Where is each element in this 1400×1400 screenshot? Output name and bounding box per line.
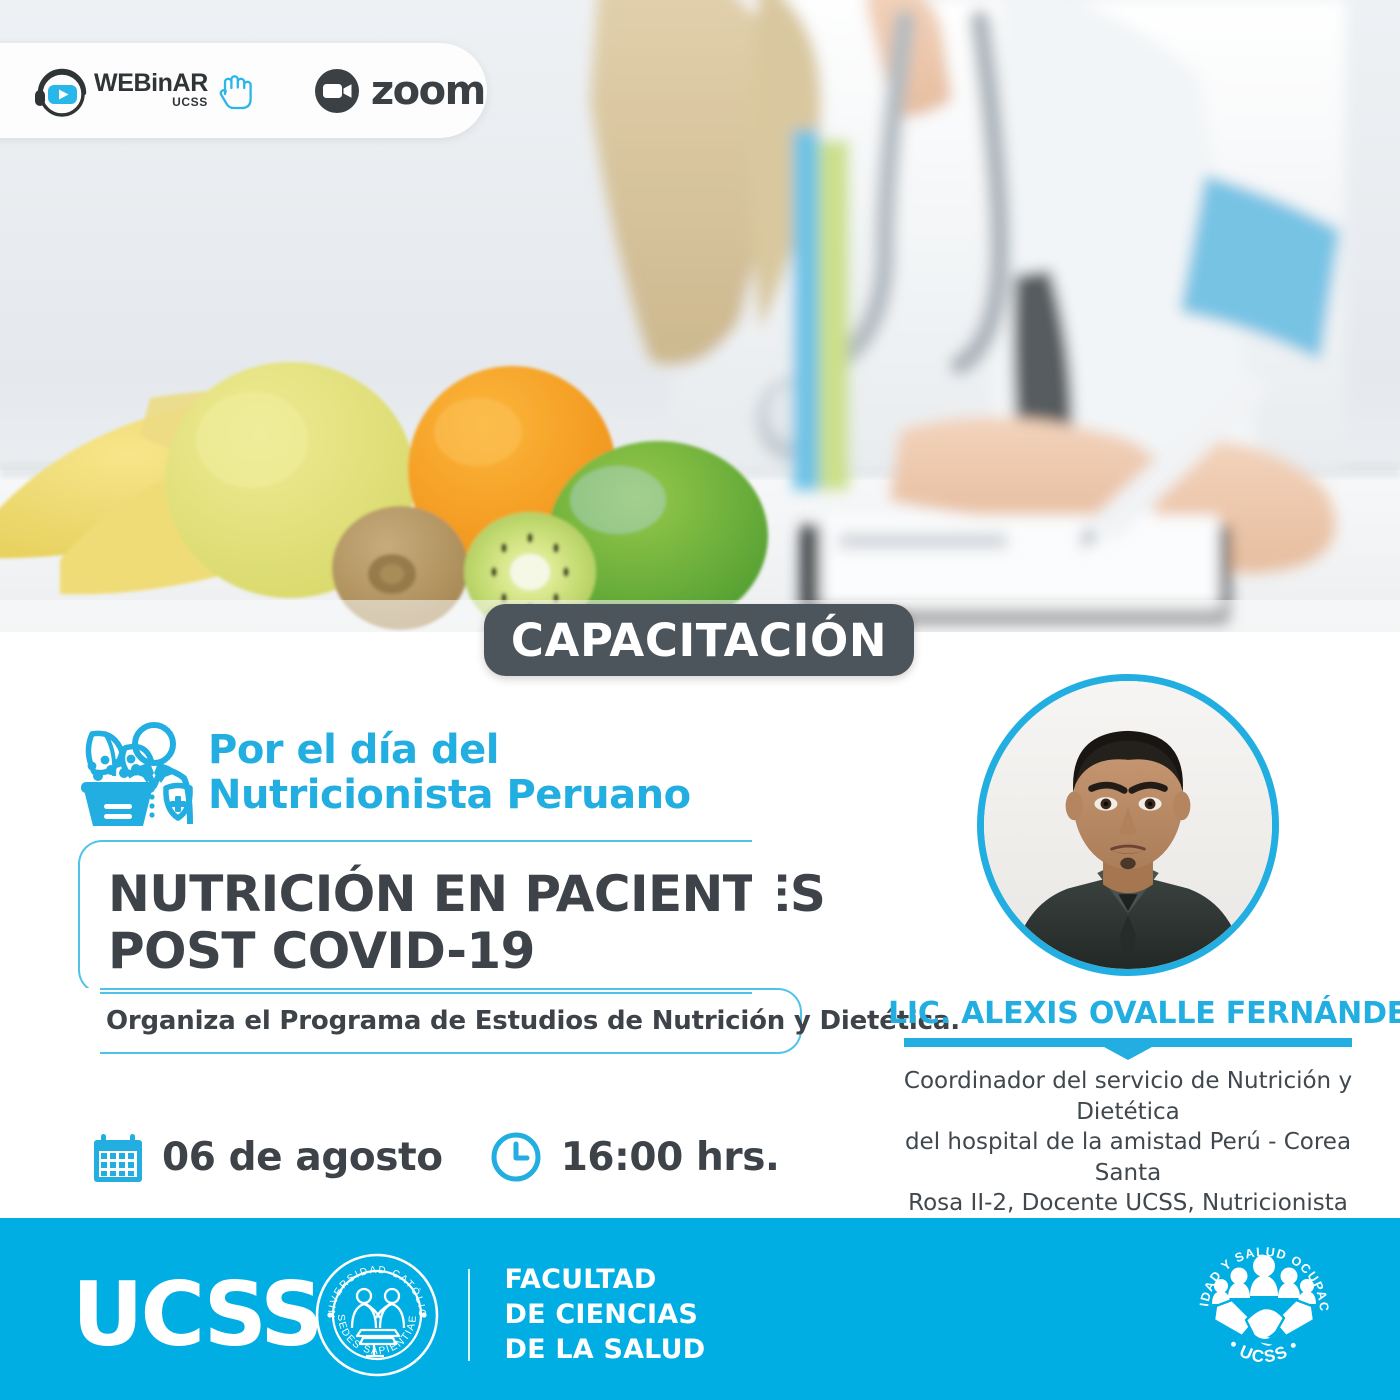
speaker-bio-line-1: Coordinador del servicio de Nutrición y … [892,1066,1364,1127]
zoom-wordmark: zoom [371,68,485,114]
calendar-icon [92,1131,144,1183]
nutritionist-basket-icon [78,722,194,830]
footer-divider [468,1269,470,1361]
event-time-label: 16:00 hrs. [561,1135,780,1180]
webinar-subtitle: UCSS [94,97,208,108]
footer: UCSS UNIVERSIDAD CATÓLICA SEDES SAPIENTI… [0,1218,1400,1400]
speaker-portrait [977,674,1279,976]
faculty-name: FACULTAD DE CIENCIAS DE LA SALUD [504,1264,705,1366]
webinar-zoom-header-bar: WEBinAR UCSS zoom [0,43,487,138]
speaker-bio-line-2: del hospital de la amistad Perú - Corea … [892,1127,1364,1188]
faculty-line-1: FACULTAD [504,1264,705,1296]
footer-branding: UCSS UNIVERSIDAD CATÓLICA SEDES SAPIENTI… [72,1252,705,1378]
left-column: Por el día del Nutricionista Peruano NUT… [78,720,818,1054]
organiza-box: Organiza el Programa de Estudios de Nutr… [76,988,802,1054]
ucss-wordmark: UCSS [72,1271,320,1359]
event-date-label: 06 de agosto [162,1135,443,1180]
poster-root: WEBinAR UCSS zoom [0,0,1400,1400]
kicker-row: Por el día del Nutricionista Peruano [78,720,818,830]
title-wrap: NUTRICIÓN EN PACIENTES POST COVID-19 Org… [78,840,804,1054]
speaker-name: LIC. ALEXIS OVALLE FERNÁNDEZ [888,996,1368,1031]
title-box: NUTRICIÓN EN PACIENTES POST COVID-19 [78,840,776,994]
speaker-portrait-illustration [984,681,1272,969]
event-time: 16:00 hrs. [489,1130,780,1184]
zoom-logo: zoom [314,68,485,114]
webinar-logo: WEBinAR UCSS [30,60,256,122]
hand-cursor-icon [216,69,256,113]
event-date: 06 de agosto [92,1131,443,1183]
kicker-line-1: Por el día del [208,728,691,773]
clock-icon [489,1130,543,1184]
occupational-safety-badge-icon: SEGURIDAD Y SALUD OCUPACIONAL • UCSS • [1188,1234,1340,1386]
event-datetime-row: 06 de agosto 16:00 hrs. [92,1130,779,1184]
faculty-line-2: DE CIENCIAS [504,1299,705,1331]
organiza-text: Organiza el Programa de Estudios de Nutr… [106,1006,780,1036]
kicker-text: Por el día del Nutricionista Peruano [208,720,691,818]
kicker-line-2: Nutricionista Peruano [208,773,691,818]
faculty-line-3: DE LA SALUD [504,1334,705,1366]
ucss-seal-icon: UNIVERSIDAD CATÓLICA SEDES SAPIENTIAE [314,1252,440,1378]
webinar-wordmark: WEBinAR [94,72,208,96]
headset-icon [30,60,92,122]
speaker-divider [904,1038,1352,1060]
title-line-2: POST COVID-19 [108,923,776,980]
main-content: Por el día del Nutricionista Peruano NUT… [0,632,1400,1218]
speaker-block: LIC. ALEXIS OVALLE FERNÁNDEZ Coordinador… [888,674,1368,1311]
video-camera-icon [314,68,360,114]
title-line-1: NUTRICIÓN EN PACIENTES [108,866,776,923]
